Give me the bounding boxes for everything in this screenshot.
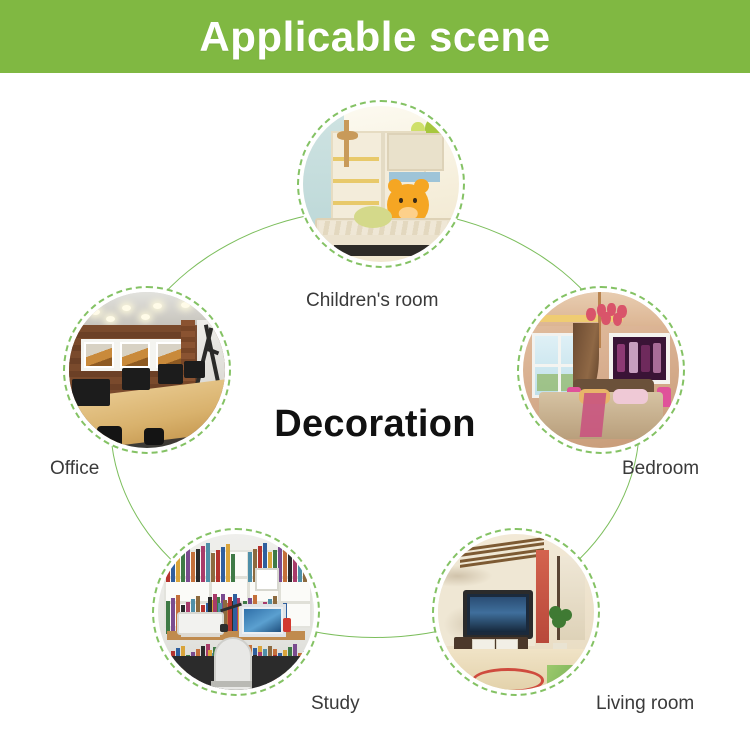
scene-bubble-office[interactable]	[63, 286, 231, 454]
applicable-scene-infographic: Applicable scene Decoration	[0, 0, 750, 750]
children-room-illustration	[303, 106, 459, 262]
scene-label-bedroom: Bedroom	[622, 458, 699, 480]
scene-bubble-children[interactable]	[297, 100, 465, 268]
bedroom-illustration	[523, 292, 679, 448]
scene-label-study: Study	[311, 693, 360, 715]
study-illustration	[158, 534, 314, 690]
bedroom-photo	[523, 292, 679, 448]
office-illustration	[69, 292, 225, 448]
page-title: Applicable scene	[199, 13, 550, 61]
header-banner: Applicable scene	[0, 0, 750, 73]
scene-bubble-bedroom[interactable]	[517, 286, 685, 454]
scene-label-children: Children's room	[306, 290, 438, 312]
scene-bubble-living[interactable]	[432, 528, 600, 696]
study-photo	[158, 534, 314, 690]
scene-label-living: Living room	[596, 693, 694, 715]
diagram-stage: Decoration	[0, 73, 750, 750]
living-room-illustration	[438, 534, 594, 690]
children-room-photo	[303, 106, 459, 262]
living-room-photo	[438, 534, 594, 690]
scene-label-office: Office	[50, 458, 99, 480]
office-photo	[69, 292, 225, 448]
scene-bubble-study[interactable]	[152, 528, 320, 696]
